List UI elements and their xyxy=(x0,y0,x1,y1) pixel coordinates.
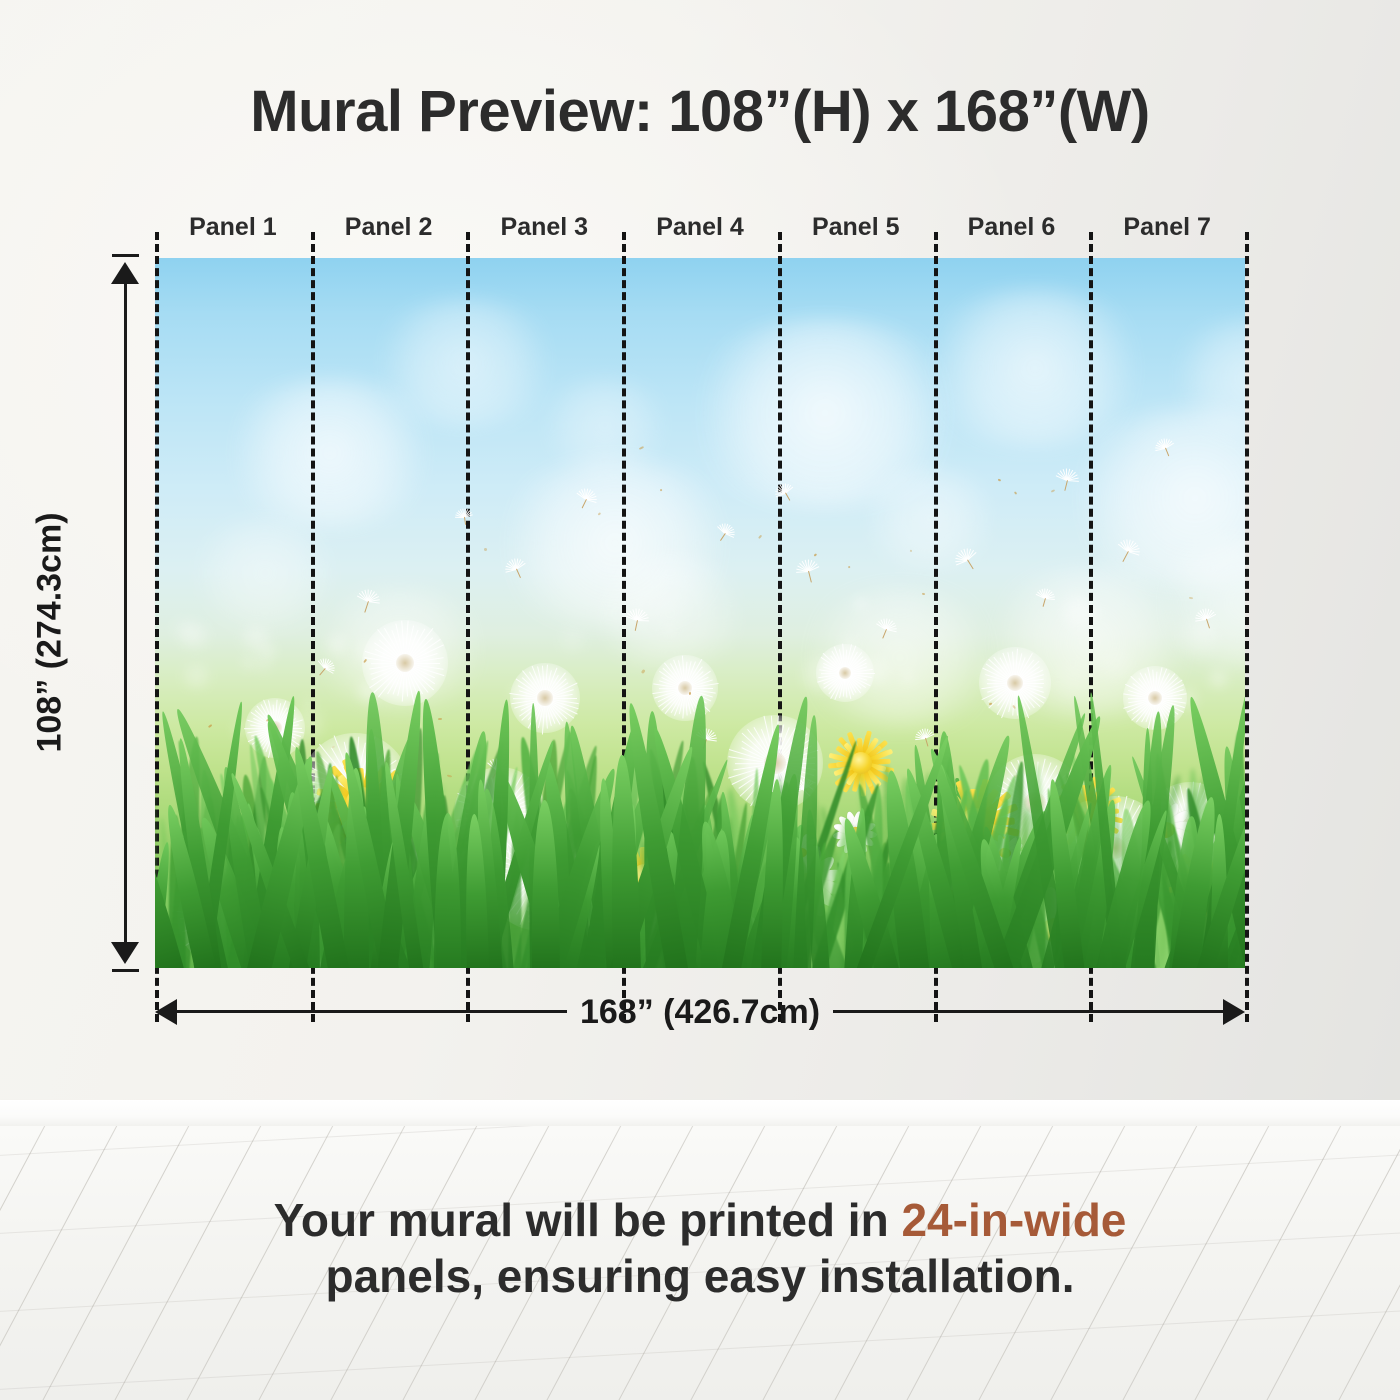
seed-spoke xyxy=(1045,598,1055,600)
seed-stem xyxy=(634,620,638,631)
panel-label-row: Panel 1 Panel 2 Panel 3 Panel 4 Panel 5 … xyxy=(155,210,1245,244)
flying-seed xyxy=(623,606,651,634)
seed-stem xyxy=(516,568,522,578)
pollen-speck xyxy=(909,549,912,552)
seed-spoke xyxy=(637,620,649,621)
seed-stem xyxy=(1064,480,1068,491)
flying-seed xyxy=(571,484,600,513)
pollen-speck xyxy=(758,535,762,539)
panel-label-1: Panel 1 xyxy=(155,210,311,244)
seed-spoke xyxy=(368,601,380,604)
flying-seed xyxy=(792,555,824,587)
arrowhead-down-icon xyxy=(111,942,139,964)
floor-seam xyxy=(0,1300,1400,1400)
footer-line2: panels, ensuring easy installation. xyxy=(325,1250,1074,1302)
pollen-speck xyxy=(1014,491,1018,495)
seed-stem xyxy=(808,571,812,583)
pollen-speck xyxy=(639,446,644,450)
seed-stem xyxy=(1206,619,1211,629)
pollen-speck xyxy=(997,479,1000,481)
flying-seed xyxy=(1052,465,1081,494)
footer-note: Your mural will be printed in 24-in-wide… xyxy=(0,1192,1400,1304)
pollen-speck xyxy=(483,548,487,551)
panel-label-2: Panel 2 xyxy=(311,210,467,244)
dimension-cap-top xyxy=(112,254,139,257)
flying-seed xyxy=(352,585,385,618)
pollen-speck xyxy=(848,566,851,569)
pollen-speck xyxy=(598,512,601,515)
flying-seed xyxy=(711,519,739,547)
mural-preview[interactable] xyxy=(155,258,1245,968)
pollen-speck xyxy=(1189,596,1193,598)
seed-stem xyxy=(364,601,369,613)
panel-label-4: Panel 4 xyxy=(622,210,778,244)
grass-layer xyxy=(155,668,1245,968)
seed-stem xyxy=(1165,447,1170,456)
width-dimension-label: 168” (426.7cm) xyxy=(155,992,1245,1032)
seed-stem xyxy=(1042,598,1046,607)
height-dimension-label: 108” (274.3cm) xyxy=(31,413,70,853)
floor-seam xyxy=(0,1126,1400,1167)
page-title: Mural Preview: 108”(H) x 168”(W) xyxy=(0,78,1400,145)
seed-stem xyxy=(882,629,887,639)
flying-seed xyxy=(872,615,901,644)
pollen-speck xyxy=(660,488,663,491)
flying-seed xyxy=(771,479,798,506)
seed-stem xyxy=(581,499,587,509)
seed-stem xyxy=(785,492,791,501)
seed-stem xyxy=(967,559,974,569)
flying-seed xyxy=(950,543,983,576)
flying-seed xyxy=(454,507,474,527)
seed-spoke xyxy=(886,629,897,632)
footer-accent-text: 24-in-wide xyxy=(901,1194,1126,1246)
flying-seed xyxy=(1152,435,1178,461)
pollen-speck xyxy=(922,593,926,596)
panel-label-6: Panel 6 xyxy=(934,210,1090,244)
width-dimension-arrow: 168” (426.7cm) xyxy=(155,992,1245,1032)
flying-seed xyxy=(1110,533,1145,568)
dimension-cap-bottom xyxy=(112,969,139,972)
mural-artwork xyxy=(155,258,1245,968)
baseboard xyxy=(0,1100,1400,1128)
seed-stem xyxy=(1122,551,1129,562)
panel-label-5: Panel 5 xyxy=(778,210,934,244)
dimension-shaft-vertical xyxy=(124,270,127,956)
flying-seed xyxy=(501,554,530,583)
panel-label-3: Panel 3 xyxy=(466,210,622,244)
height-dimension-arrow xyxy=(104,258,146,968)
footer-line1-pre: Your mural will be printed in xyxy=(274,1194,902,1246)
seed-stem xyxy=(720,533,726,542)
seed-spoke xyxy=(1067,480,1079,482)
panel-label-7: Panel 7 xyxy=(1089,210,1245,244)
flying-seed xyxy=(1033,586,1058,611)
arrowhead-up-icon xyxy=(111,262,139,284)
pollen-speck xyxy=(1050,490,1054,494)
seed-stem xyxy=(464,517,467,525)
flying-seed xyxy=(1192,605,1220,633)
